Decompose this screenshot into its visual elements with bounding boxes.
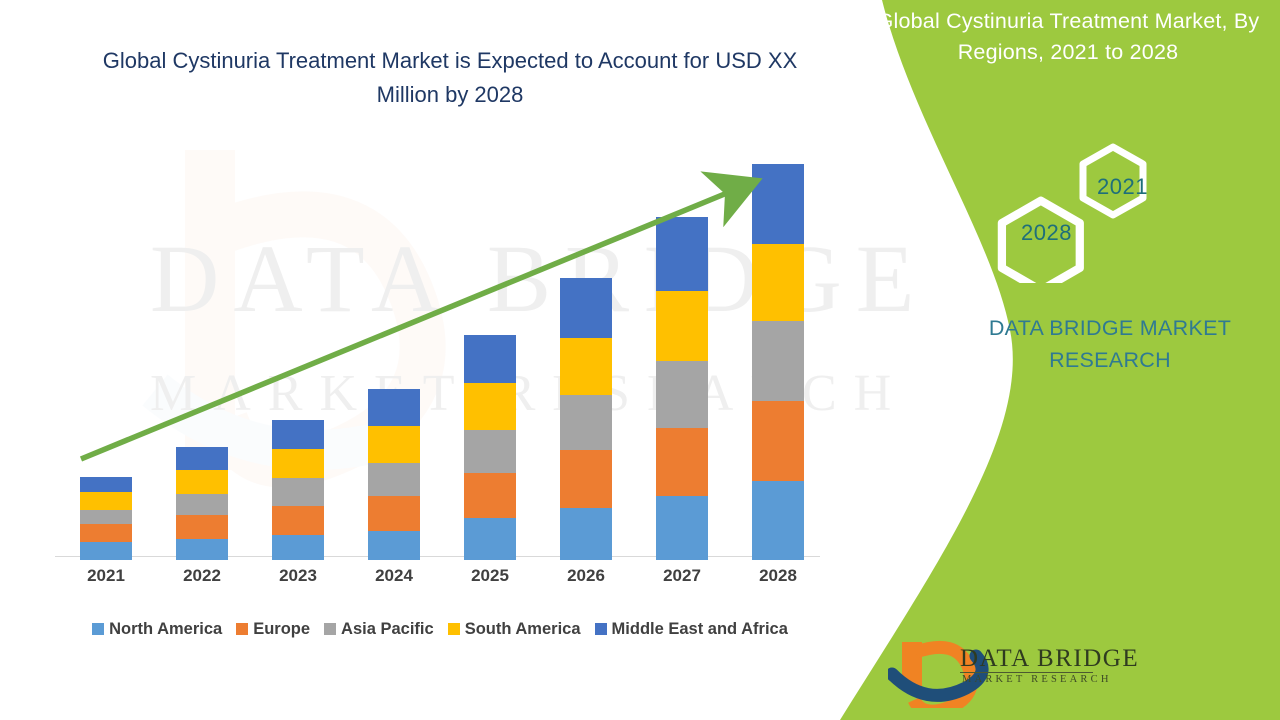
x-label-2021: 2021 [66,566,146,586]
bar-2028 [752,164,804,560]
infographic-canvas: DATA BRIDGE MARKET RESEARCH Global Cysti… [0,0,1280,720]
hexagon-badges [975,138,1185,283]
segment-2026-0 [560,508,612,560]
segment-2024-1 [368,496,420,531]
segment-2027-2 [656,361,708,427]
logo-subtitle: MARKET RESEARCH [962,674,1112,685]
segment-2025-3 [464,383,516,430]
segment-2022-3 [176,470,228,494]
segment-2023-3 [272,449,324,478]
bar-2024 [368,389,420,560]
segment-2021-2 [80,510,132,524]
segment-2028-4 [752,164,804,244]
legend-swatch-icon [324,623,336,635]
segment-2025-4 [464,335,516,383]
segment-2023-2 [272,478,324,506]
page-title: Global Cystinuria Treatment Market is Ex… [70,44,830,112]
segment-2021-1 [80,524,132,542]
bar-2023 [272,420,324,560]
segment-2021-4 [80,477,132,492]
stacked-bar-chart [55,150,825,560]
x-label-2026: 2026 [546,566,626,586]
x-label-2027: 2027 [642,566,722,586]
segment-2028-1 [752,401,804,481]
segment-2025-2 [464,430,516,474]
logo-title: DATA BRIDGE [960,645,1139,673]
segment-2021-0 [80,542,132,560]
segment-2025-1 [464,473,516,518]
legend-label: North America [109,620,222,639]
segment-2022-4 [176,447,228,471]
legend-item-2[interactable]: Asia Pacific [324,620,434,639]
segment-2028-0 [752,481,804,560]
legend-label: Asia Pacific [341,620,434,639]
x-label-2024: 2024 [354,566,434,586]
x-label-2025: 2025 [450,566,530,586]
legend-swatch-icon [595,623,607,635]
bar-2022 [176,447,228,560]
hex-2021-label: 2021 [1097,174,1148,200]
bar-2021 [80,477,132,560]
legend-swatch-icon [236,623,248,635]
segment-2024-4 [368,389,420,426]
legend-swatch-icon [92,623,104,635]
segment-2026-3 [560,338,612,396]
segment-2025-0 [464,518,516,560]
legend-label: South America [465,620,581,639]
segment-2022-1 [176,515,228,539]
x-label-2028: 2028 [738,566,818,586]
legend-item-1[interactable]: Europe [236,620,310,639]
segment-2024-2 [368,463,420,496]
segment-2028-2 [752,321,804,401]
bar-2027 [656,217,708,560]
x-label-2023: 2023 [258,566,338,586]
hex-2028-label: 2028 [1021,220,1072,246]
segment-2026-1 [560,450,612,508]
brand-text: DATA BRIDGE MARKET RESEARCH [960,312,1260,376]
segment-2023-1 [272,506,324,536]
segment-2024-3 [368,426,420,462]
panel-title: Global Cystinuria Treatment Market, By R… [856,6,1280,68]
segment-2027-0 [656,496,708,560]
segment-2027-1 [656,428,708,496]
legend-label: Europe [253,620,310,639]
legend-item-3[interactable]: South America [448,620,581,639]
legend-item-4[interactable]: Middle East and Africa [595,620,788,639]
segment-2022-2 [176,494,228,515]
segment-2026-2 [560,395,612,449]
legend-swatch-icon [448,623,460,635]
segment-2027-3 [656,291,708,362]
x-axis-labels: 20212022202320242025202620272028 [55,566,820,596]
segment-2022-0 [176,539,228,560]
segment-2023-0 [272,535,324,560]
x-label-2022: 2022 [162,566,242,586]
chart-legend: North AmericaEuropeAsia PacificSouth Ame… [55,617,825,641]
segment-2026-4 [560,278,612,338]
segment-2027-4 [656,217,708,291]
segment-2024-0 [368,531,420,560]
segment-2021-3 [80,492,132,510]
legend-item-0[interactable]: North America [92,620,222,639]
segment-2023-4 [272,420,324,449]
bar-2025 [464,335,516,560]
segment-2028-3 [752,244,804,321]
logo-divider [960,672,1093,673]
bar-2026 [560,278,612,560]
legend-label: Middle East and Africa [612,620,788,639]
